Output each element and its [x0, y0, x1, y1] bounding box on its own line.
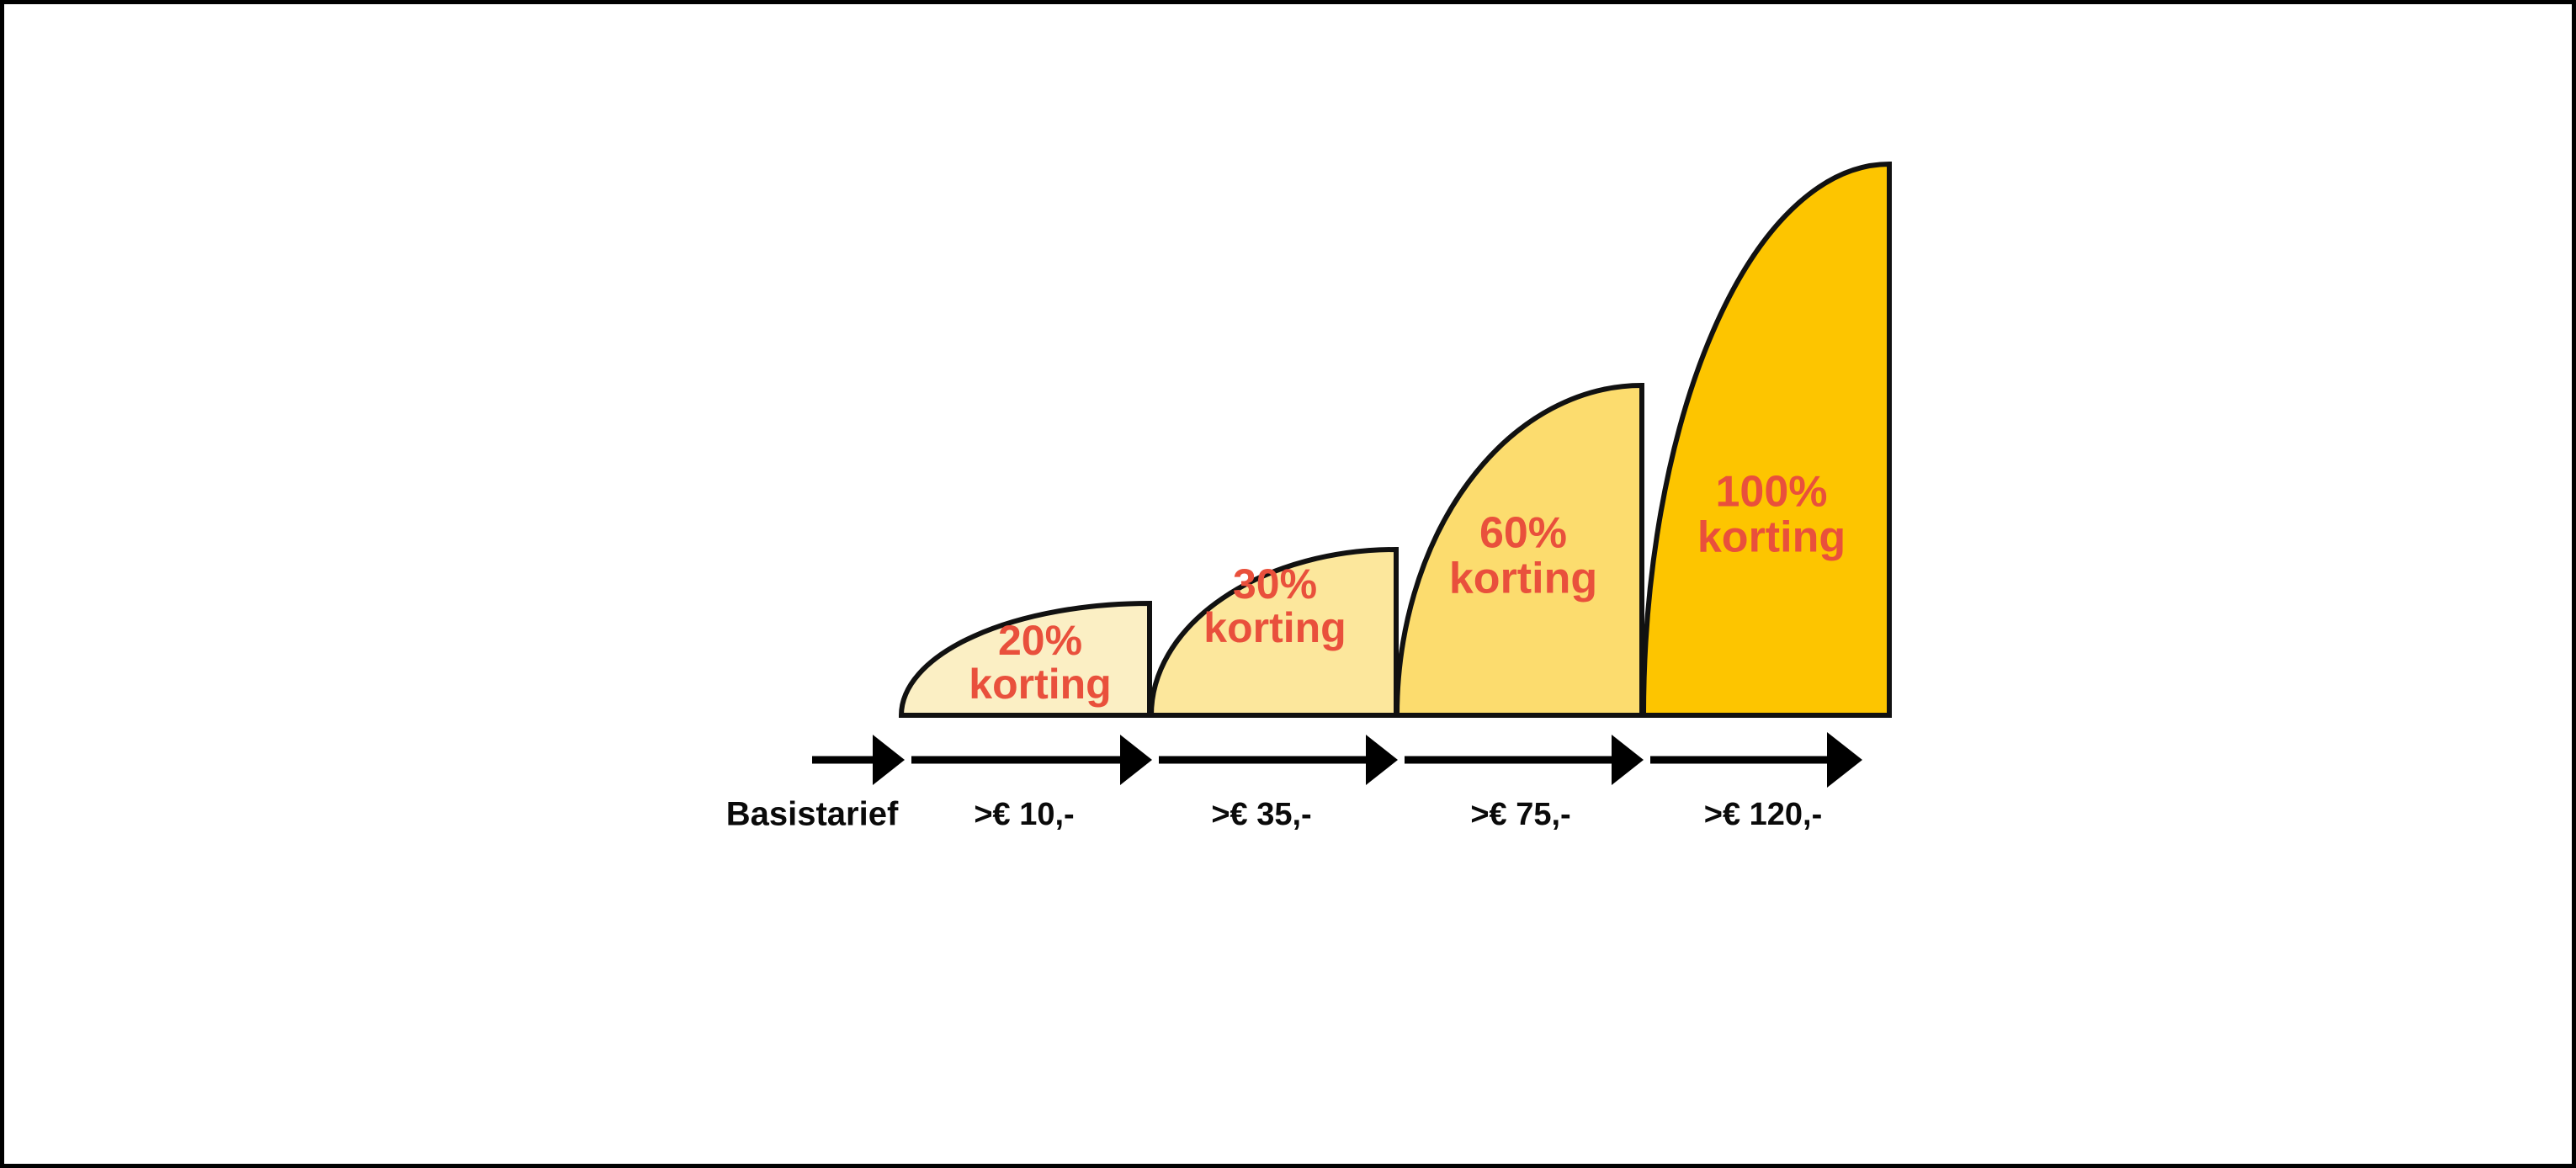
bar-label-30-korting: korting: [1203, 604, 1346, 651]
bar-group-20[interactable]: 20% korting: [901, 603, 1150, 715]
bar-label-20-pct: 20%: [998, 617, 1082, 664]
axis-tick-label-35: >€ 35,-: [1211, 797, 1311, 832]
axis-arrow-segment-3: [1405, 735, 1644, 785]
arrow-right-icon: [873, 735, 905, 785]
axis-tick-label-75: >€ 75,-: [1470, 797, 1570, 832]
arrow-right-icon: [1827, 732, 1862, 788]
axis-arrow-segment-0: [812, 735, 905, 785]
bar-label-60-pct: 60%: [1479, 509, 1567, 558]
axis-arrow-segment-4: [1650, 732, 1862, 788]
arrow-right-icon: [1120, 735, 1152, 785]
bar-shape-100: [1644, 164, 1889, 715]
axis-tick-label-120: >€ 120,-: [1704, 797, 1823, 832]
bar-label-100-pct: 100%: [1716, 468, 1828, 517]
chart-canvas: 20% korting 30% korting 60% korting 100%…: [0, 0, 2576, 1168]
bar-label-100-korting: korting: [1697, 513, 1846, 562]
axis-arrow-segment-1: [911, 735, 1152, 785]
bar-group-100[interactable]: 100% korting: [1644, 164, 1889, 715]
bar-group-60[interactable]: 60% korting: [1397, 385, 1642, 715]
axis-tick-labels: Basistarief >€ 10,- >€ 35,- >€ 75,- >€ 1…: [726, 796, 1823, 833]
discount-tier-chart: 20% korting 30% korting 60% korting 100%…: [4, 4, 2576, 1168]
bar-label-30-pct: 30%: [1233, 560, 1317, 608]
bar-label-60-korting: korting: [1449, 555, 1597, 603]
axis-arrow-segment-2: [1159, 735, 1398, 785]
bar-label-20-korting: korting: [969, 661, 1111, 708]
axis-tick-label-basistarief: Basistarief: [726, 796, 899, 833]
arrow-right-icon: [1366, 735, 1398, 785]
axis-tick-label-10: >€ 10,-: [974, 797, 1074, 832]
bar-group-30[interactable]: 30% korting: [1151, 549, 1396, 715]
arrow-right-icon: [1612, 735, 1644, 785]
axis-arrow-track: [812, 732, 1862, 788]
